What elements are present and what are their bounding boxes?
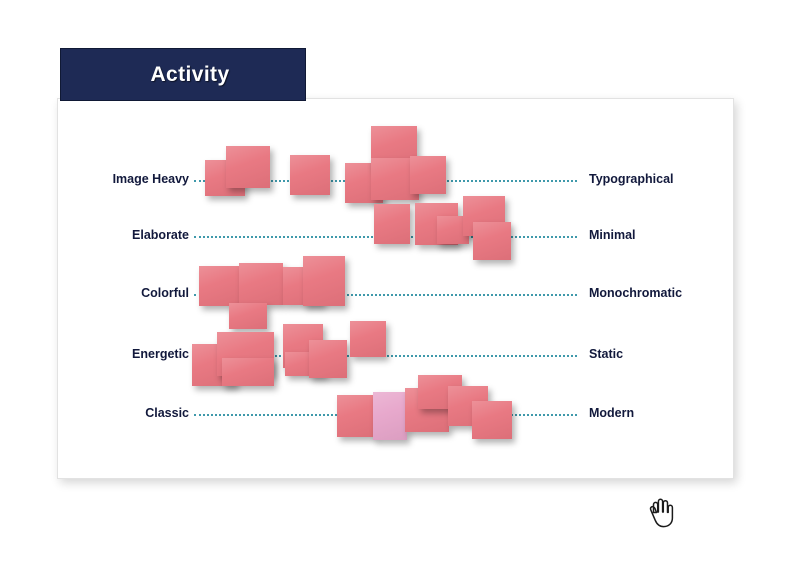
sticky-note[interactable] — [410, 156, 446, 194]
sticky-note[interactable] — [309, 340, 347, 378]
sticky-note[interactable] — [239, 263, 283, 305]
page-title: Activity — [136, 63, 229, 87]
sticky-note[interactable] — [199, 266, 239, 306]
slide-title-banner: Activity — [60, 48, 306, 101]
sticky-note[interactable] — [226, 146, 270, 188]
sticky-note[interactable] — [473, 222, 511, 260]
sticky-note[interactable] — [350, 321, 386, 357]
sticky-note[interactable] — [337, 395, 375, 437]
sticky-note[interactable] — [373, 392, 407, 440]
hand-grab-cursor-icon — [646, 492, 680, 530]
sticky-note[interactable] — [229, 303, 267, 329]
sticky-note[interactable] — [472, 401, 512, 439]
sticky-note[interactable] — [290, 155, 330, 195]
sticky-note[interactable] — [222, 358, 274, 386]
sticky-note[interactable] — [374, 204, 410, 244]
sticky-note[interactable] — [303, 256, 345, 306]
